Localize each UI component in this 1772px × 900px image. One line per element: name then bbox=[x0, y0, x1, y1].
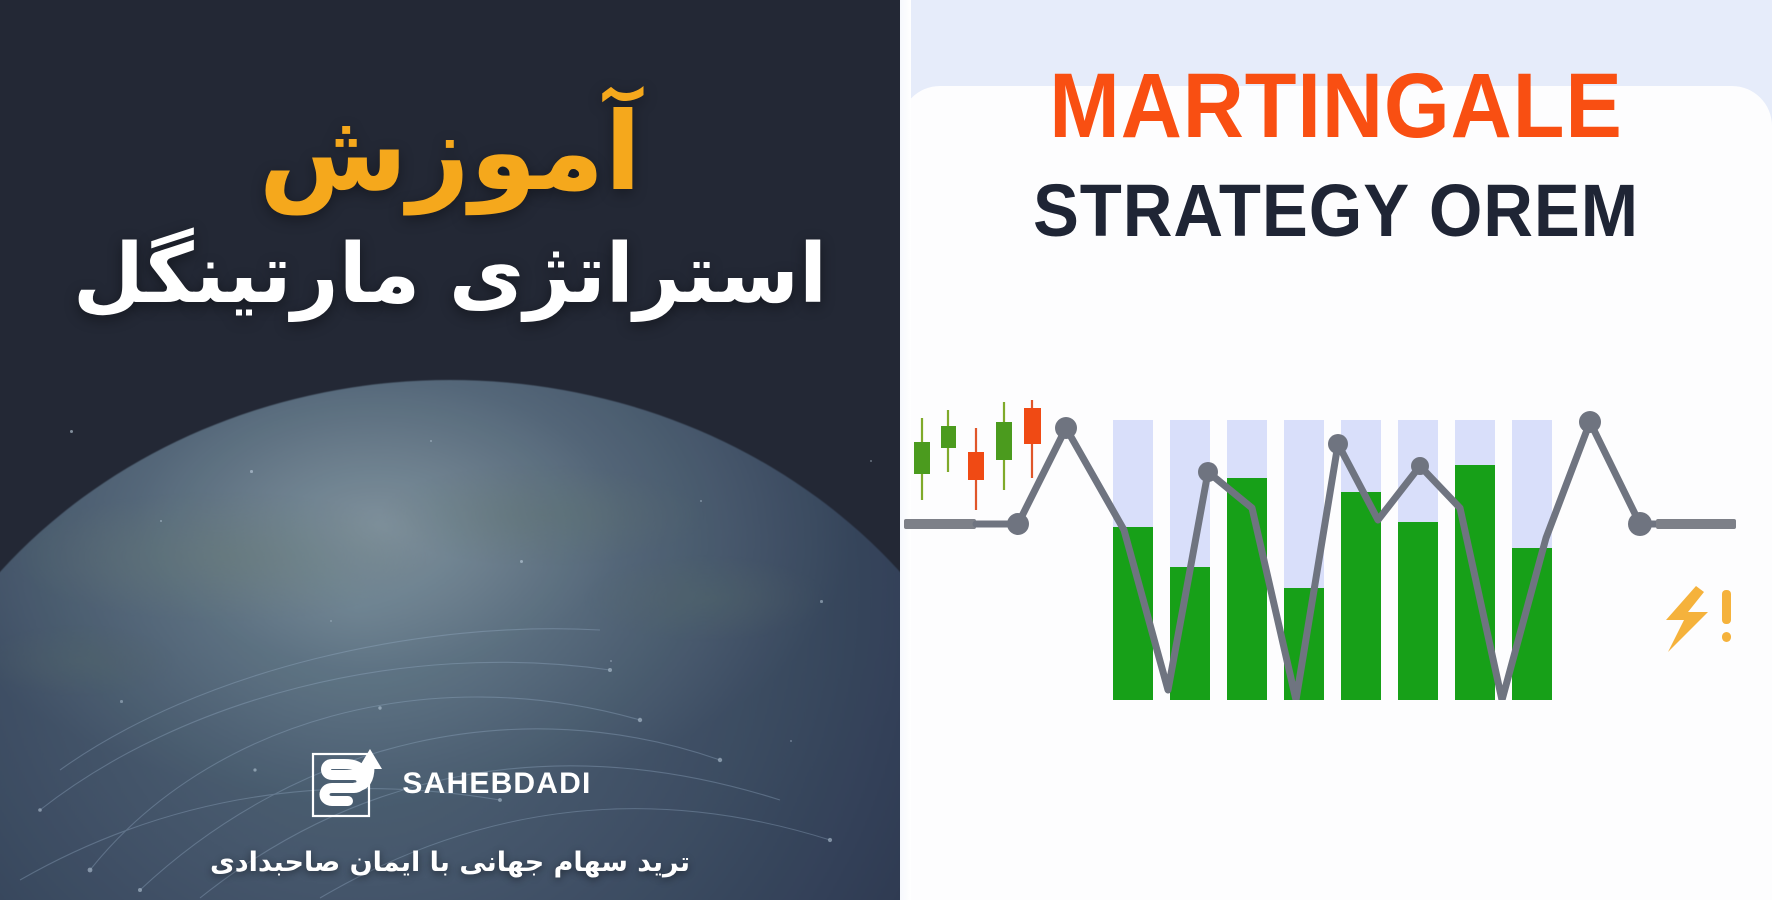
candle-down-1 bbox=[968, 428, 984, 510]
brand-block: SAHEBDADI ترید سهام جهانی با ایمان صاحبد… bbox=[0, 743, 900, 878]
brand-wordmark: SAHEBDADI bbox=[402, 767, 591, 801]
thumbnail-canvas: آموزش استراتژی مارتینگل SAHEBDADI ترید س… bbox=[0, 0, 1772, 900]
candle-up-1 bbox=[914, 418, 930, 500]
chart-illustration bbox=[900, 400, 1772, 700]
right-headline-block: MARTINGALE STRATEGY OREM bbox=[900, 60, 1772, 248]
sahebdadi-logo-icon bbox=[308, 743, 392, 825]
flat-segment-right bbox=[1656, 519, 1736, 529]
left-dark-panel: آموزش استراتژی مارتینگل SAHEBDADI ترید س… bbox=[0, 0, 900, 900]
martingale-chart-svg bbox=[900, 400, 1772, 700]
right-light-panel: MARTINGALE STRATEGY OREM bbox=[900, 0, 1772, 900]
lightning-bolt-icon bbox=[1666, 586, 1731, 652]
candle-up-2 bbox=[941, 410, 956, 472]
candle-down-2 bbox=[1024, 400, 1041, 478]
headline-amoozesh: آموزش bbox=[259, 96, 642, 209]
price-line bbox=[976, 422, 1690, 700]
headline-strategy-orem: STRATEGY OREM bbox=[931, 174, 1742, 248]
headline-strategy-martingale: استراتژی مارتینگل bbox=[73, 227, 827, 324]
logo-row: SAHEBDADI bbox=[308, 743, 591, 825]
brand-tagline: ترید سهام جهانی با ایمان صاحبدادی bbox=[210, 847, 690, 878]
candlestick-group bbox=[914, 400, 1041, 510]
candle-up-3 bbox=[996, 402, 1012, 490]
flat-segment-left bbox=[904, 519, 976, 529]
headline-martingale: MARTINGALE bbox=[935, 60, 1737, 152]
